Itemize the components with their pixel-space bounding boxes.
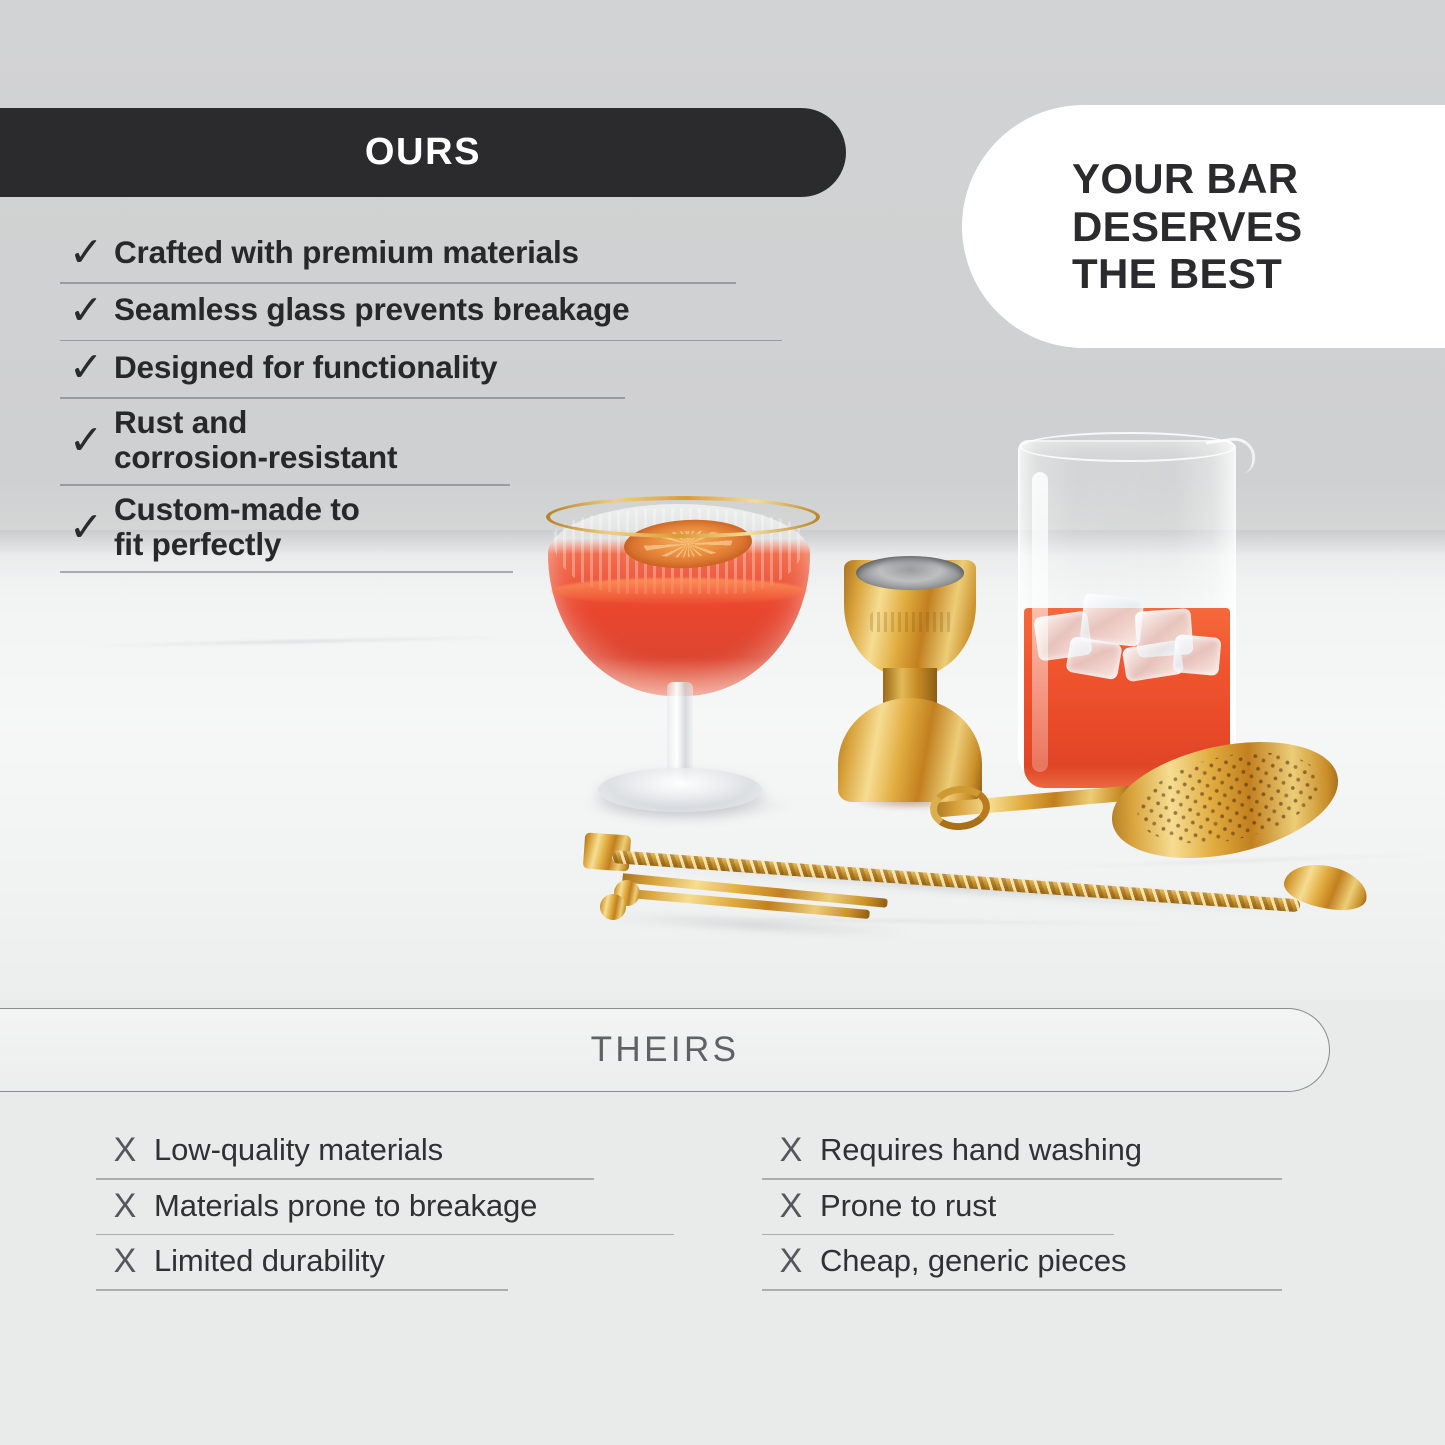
- check-icon: ✓: [58, 347, 114, 388]
- ours-benefit-label: Seamless glass prevents breakage: [114, 292, 629, 327]
- ours-benefit-label: Custom-made to fit perfectly: [114, 492, 360, 563]
- ours-benefit-item: ✓Designed for functionality: [58, 341, 818, 397]
- theirs-column-right: XRequires hand washingXProne to rustXChe…: [762, 1124, 1346, 1291]
- mixing-glass-spout: [1206, 435, 1258, 478]
- divider: [60, 571, 513, 573]
- theirs-drawback-label: Limited durability: [154, 1244, 385, 1278]
- theirs-drawback-label: Cheap, generic pieces: [820, 1244, 1126, 1278]
- cross-icon: X: [762, 1189, 820, 1223]
- divider: [762, 1178, 1282, 1180]
- strainer-loop: [928, 783, 992, 832]
- cocktail-surface: [552, 578, 806, 604]
- theirs-drawback-item: XMaterials prone to breakage: [96, 1180, 680, 1234]
- ours-benefit-item: ✓Rust and corrosion-resistant: [58, 399, 818, 485]
- tagline-line-3: THE BEST: [1072, 250, 1302, 298]
- check-icon: ✓: [58, 507, 114, 548]
- theirs-drawbacks: XLow-quality materialsXMaterials prone t…: [96, 1124, 1346, 1291]
- tagline-line-2: DESERVES: [1072, 203, 1302, 251]
- theirs-drawback-item: XProne to rust: [762, 1180, 1346, 1234]
- theirs-drawback-item: XLow-quality materials: [96, 1124, 680, 1178]
- tagline-badge: YOUR BAR DESERVES THE BEST: [962, 105, 1445, 348]
- theirs-drawback-label: Materials prone to breakage: [154, 1189, 537, 1223]
- ours-benefit-label: Rust and corrosion-resistant: [114, 405, 397, 476]
- ice-cubes: [1032, 588, 1220, 674]
- coupe-stem: [667, 682, 693, 782]
- check-icon: ✓: [58, 290, 114, 331]
- theirs-drawback-item: XRequires hand washing: [762, 1124, 1346, 1178]
- mixing-glass-body: [1018, 440, 1236, 778]
- divider: [762, 1234, 1114, 1236]
- check-icon: ✓: [58, 420, 114, 461]
- theirs-header-label: THEIRS: [531, 1030, 740, 1070]
- theirs-drawback-label: Low-quality materials: [154, 1133, 443, 1167]
- cross-icon: X: [96, 1133, 154, 1167]
- divider: [762, 1289, 1282, 1291]
- ours-header-label: OURS: [305, 131, 481, 174]
- cross-icon: X: [762, 1133, 820, 1167]
- pick-ball-top: [600, 894, 626, 920]
- ours-benefits-list: ✓Crafted with premium materials✓Seamless…: [58, 226, 818, 573]
- cross-icon: X: [96, 1189, 154, 1223]
- ours-header-pill: OURS: [0, 108, 846, 197]
- ours-benefit-item: ✓Seamless glass prevents breakage: [58, 284, 818, 340]
- check-icon: ✓: [58, 232, 114, 273]
- coupe-foot: [598, 768, 762, 812]
- theirs-drawback-label: Prone to rust: [820, 1189, 996, 1223]
- cross-icon: X: [762, 1244, 820, 1278]
- ours-benefit-item: ✓Custom-made to fit perfectly: [58, 486, 818, 572]
- mixing-glass: [1018, 424, 1254, 780]
- comparison-infographic: OURS YOUR BAR DESERVES THE BEST ✓Crafted…: [0, 0, 1445, 1445]
- jigger-etching: [870, 612, 952, 632]
- glass-highlight: [1032, 472, 1048, 772]
- gold-julep-strainer: [930, 742, 1350, 872]
- divider: [96, 1289, 508, 1291]
- theirs-drawback-item: XLimited durability: [96, 1235, 680, 1289]
- theirs-drawback-label: Requires hand washing: [820, 1133, 1142, 1167]
- ours-benefit-label: Designed for functionality: [114, 350, 497, 385]
- jigger-inner-steel: [856, 556, 964, 590]
- tagline-line-1: YOUR BAR: [1072, 155, 1302, 203]
- tagline-text: YOUR BAR DESERVES THE BEST: [962, 155, 1302, 299]
- divider: [96, 1178, 594, 1180]
- ours-benefit-label: Crafted with premium materials: [114, 235, 579, 270]
- divider: [96, 1234, 674, 1236]
- mixing-glass-rim: [1020, 432, 1236, 462]
- theirs-drawback-item: XCheap, generic pieces: [762, 1235, 1346, 1289]
- gold-cocktail-picks: [592, 880, 952, 940]
- theirs-column-left: XLow-quality materialsXMaterials prone t…: [96, 1124, 680, 1291]
- ours-benefit-item: ✓Crafted with premium materials: [58, 226, 818, 282]
- cross-icon: X: [96, 1244, 154, 1278]
- theirs-header-pill: THEIRS: [0, 1008, 1330, 1092]
